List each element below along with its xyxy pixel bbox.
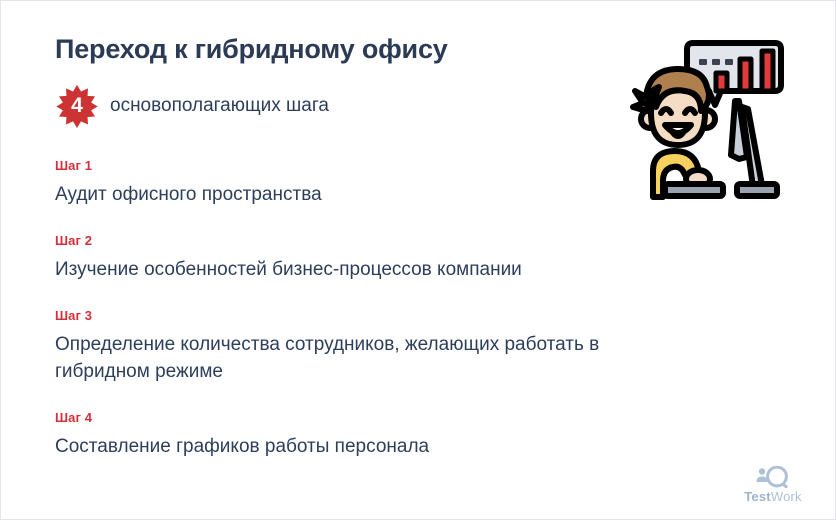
- step-item: Шаг 2 Изучение особенностей бизнес-проце…: [55, 233, 695, 284]
- step-label: Шаг 1: [55, 158, 695, 173]
- step-text: Определение количества сотрудников, жела…: [55, 332, 695, 386]
- person-at-computer-illustration: [629, 29, 791, 201]
- logo-text: TestWork: [731, 490, 815, 503]
- steps-list: Шаг 1 Аудит офисного пространства Шаг 2 …: [55, 158, 695, 461]
- subtitle-row: 4 основополагающих шага: [55, 84, 329, 128]
- person-search-icon: [755, 466, 791, 488]
- monitor: [731, 101, 777, 196]
- step-label: Шаг 4: [55, 410, 695, 425]
- star-badge: 4: [55, 84, 99, 128]
- page-title: Переход к гибридному офису: [55, 34, 448, 65]
- step-text: Составление графиков работы персонала: [55, 434, 695, 461]
- brand-logo: TestWork: [731, 466, 815, 503]
- step-label: Шаг 3: [55, 308, 695, 323]
- step-item: Шаг 1 Аудит офисного пространства: [55, 158, 695, 209]
- three-dots-icon: [699, 59, 733, 65]
- step-item: Шаг 3 Определение количества сотрудников…: [55, 308, 695, 386]
- slide-canvas: Переход к гибридному офису 4 основополаг…: [0, 0, 836, 520]
- logo-name-light: Work: [771, 489, 802, 504]
- badge-number: 4: [55, 84, 99, 128]
- subtitle-text: основополагающих шага: [110, 95, 329, 117]
- step-text: Изучение особенностей бизнес-процессов к…: [55, 257, 695, 284]
- step-label: Шаг 2: [55, 233, 695, 248]
- step-text: Аудит офисного пространства: [55, 182, 695, 209]
- logo-name-bold: Test: [744, 489, 771, 504]
- step-item: Шаг 4 Составление графиков работы персон…: [55, 410, 695, 461]
- keyboard: [665, 184, 723, 196]
